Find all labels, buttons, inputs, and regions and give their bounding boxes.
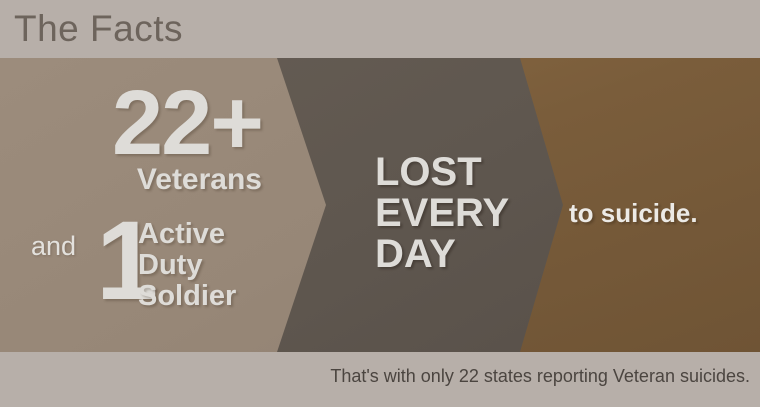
lost-line-1: LOST	[375, 152, 555, 193]
active-duty-label-line-3: Soldier	[138, 281, 236, 312]
footer-caption: That's with only 22 states reporting Vet…	[330, 364, 750, 388]
active-duty-group: and 1 Active Duty Soldier	[0, 214, 262, 324]
active-duty-stat-label: Active Duty Soldier	[138, 219, 236, 312]
veterans-stat-label: Veterans	[137, 162, 262, 198]
lost-line-2: EVERY	[375, 193, 555, 234]
active-duty-label-line-2: Duty	[138, 250, 236, 281]
center-panel-content: LOST EVERY DAY	[375, 152, 555, 275]
to-suicide-text: to suicide.	[569, 198, 759, 228]
veterans-stat-number: 22+	[112, 77, 262, 169]
conjunction-and: and	[31, 230, 76, 262]
right-panel-content: to suicide.	[569, 198, 759, 228]
infographic-root: The Facts 22+ Veterans and 1 Active Duty…	[0, 0, 760, 407]
left-panel-content: 22+ Veterans and 1 Active Duty Soldier	[0, 58, 268, 352]
footer-band: That's with only 22 states reporting Vet…	[0, 352, 760, 407]
active-duty-label-line-1: Active	[138, 219, 236, 250]
page-title: The Facts	[14, 6, 183, 52]
chevron-panels: 22+ Veterans and 1 Active Duty Soldier L…	[0, 58, 760, 352]
header-band: The Facts	[0, 0, 760, 58]
lost-line-3: DAY	[375, 234, 555, 275]
lost-every-day-heading: LOST EVERY DAY	[375, 152, 555, 275]
